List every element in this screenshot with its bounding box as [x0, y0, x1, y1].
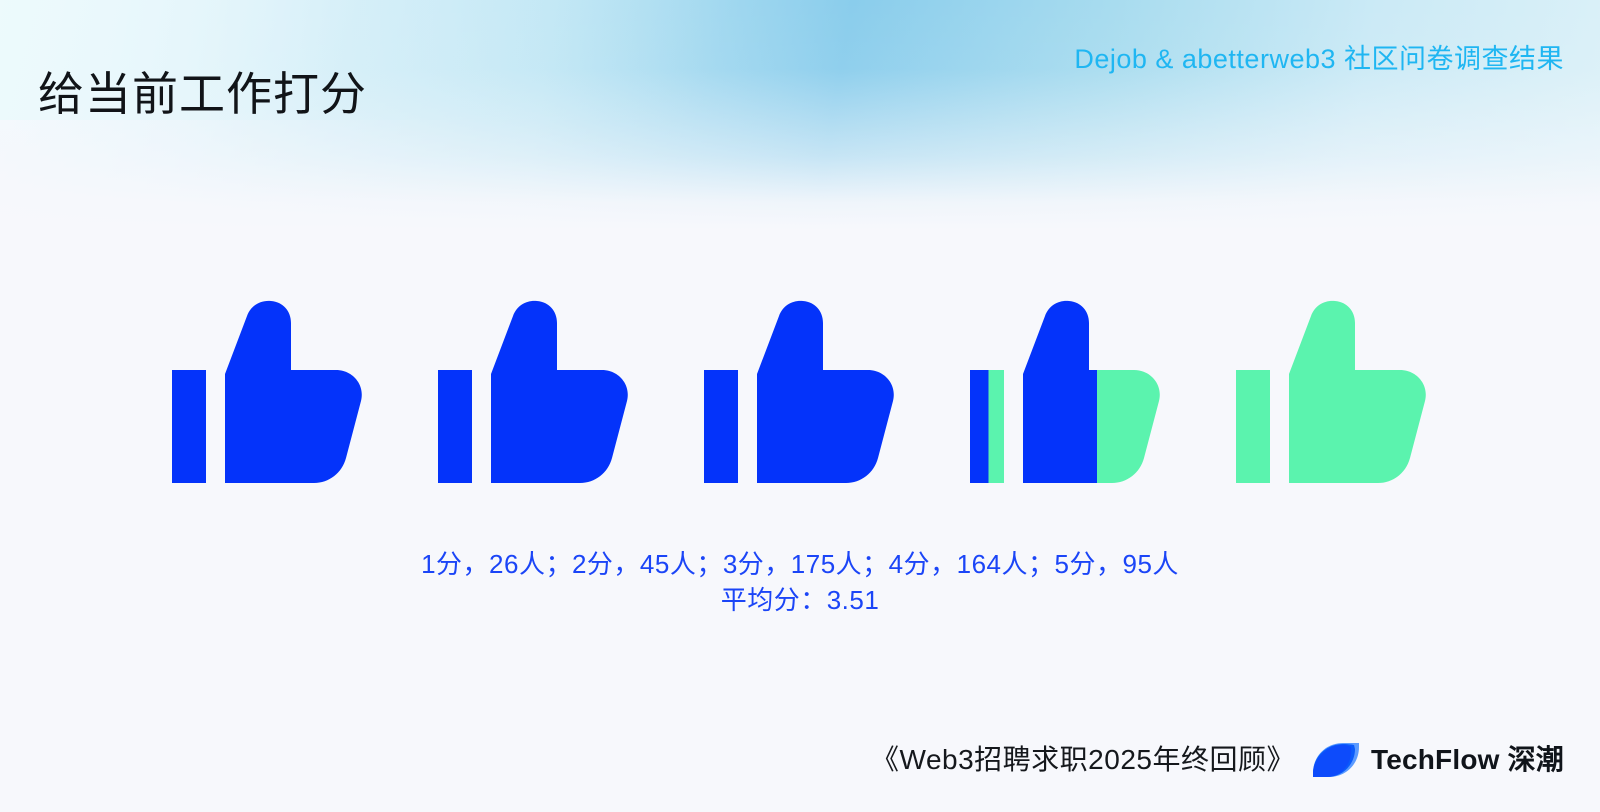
report-title: 《Web3招聘求职2025年终回顾》	[871, 740, 1295, 780]
average-score: 平均分：3.51	[0, 582, 1600, 618]
slide-root: 给当前工作打分 Dejob & abetterweb3 社区问卷调查结果	[0, 0, 1600, 812]
rating-thumbs-row	[170, 300, 1430, 500]
rating-thumb-2	[436, 300, 632, 485]
thumbs-up-icon-empty	[1236, 301, 1426, 483]
rating-thumb-5	[1234, 300, 1430, 485]
page-title: 给当前工作打分	[38, 63, 367, 125]
rating-thumb-4	[968, 300, 1164, 485]
rating-thumb-1	[170, 300, 366, 485]
brand-lockup: TechFlow 深潮	[1313, 742, 1564, 778]
techflow-leaf-logo-icon	[1313, 743, 1359, 777]
thumbs-up-icon	[172, 301, 362, 483]
thumbs-up-icon-partial	[970, 301, 1160, 483]
thumbs-up-icon	[704, 301, 894, 483]
footer: 《Web3招聘求职2025年终回顾》 TechFlow 深潮	[871, 740, 1564, 780]
stats-block: 1分，26人；2分，45人；3分，175人；4分，164人；5分，95人 平均分…	[0, 546, 1600, 618]
score-breakdown: 1分，26人；2分，45人；3分，175人；4分，164人；5分，95人	[0, 546, 1600, 582]
survey-source-label: Dejob & abetterweb3 社区问卷调查结果	[1074, 40, 1564, 78]
brand-name: TechFlow 深潮	[1371, 742, 1564, 778]
rating-thumb-3	[702, 300, 898, 485]
thumbs-up-icon	[438, 301, 628, 483]
